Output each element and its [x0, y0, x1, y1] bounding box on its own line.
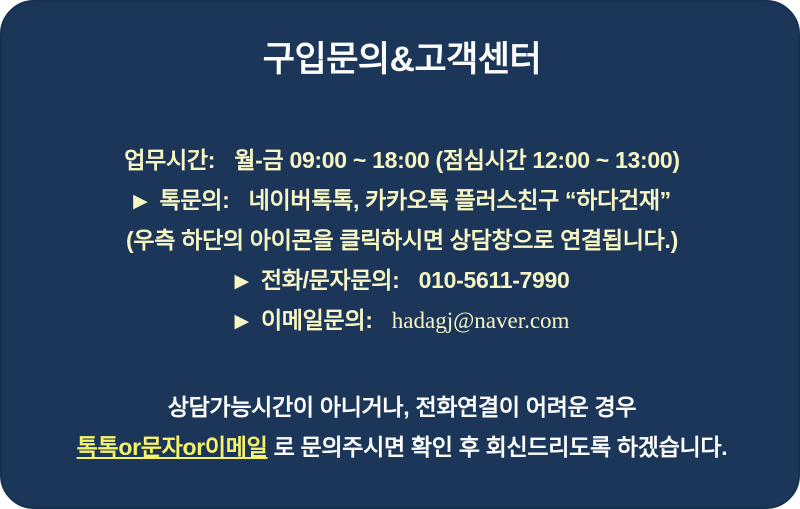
phone-number[interactable]: 010-5611-7990 — [419, 267, 570, 293]
phone-inquiry-label: 전화/문자문의: — [261, 267, 400, 293]
info-line-business-hours: 업무시간: 월-금 09:00 ~ 18:00 (점심시간 12:00 ~ 13… — [2, 140, 800, 180]
info-line-phone-inquiry: ▶ 전화/문자문의: 010-5611-7990 — [2, 260, 800, 300]
info-line-email-inquiry: ▶ 이메일문의: hadagj@naver.com — [2, 300, 800, 340]
closing-highlight-text: 톡톡or문자or이메일 — [77, 434, 268, 460]
inquiry-info-list: 업무시간: 월-금 09:00 ~ 18:00 (점심시간 12:00 ~ 13… — [2, 140, 800, 340]
email-inquiry-label: 이메일문의: — [261, 307, 373, 333]
messenger-note-text: (우측 하단의 아이콘을 클릭하시면 상담창으로 연결됩니다.) — [126, 227, 678, 253]
closing-line-2-text: 로 문의주시면 확인 후 회신드리도록 하겠습니다. — [274, 434, 728, 460]
page-title: 구입문의&고객센터 — [2, 40, 800, 80]
email-address[interactable]: hadagj@naver.com — [392, 308, 570, 333]
messenger-inquiry-label: 톡문의: — [160, 187, 230, 213]
info-line-messenger-note: (우측 하단의 아이콘을 클릭하시면 상담창으로 연결됩니다.) — [2, 220, 800, 260]
triangle-bullet-icon: ▶ — [234, 262, 248, 302]
closing-message: 상담가능시간이 아니거나, 전화연결이 어려운 경우 톡톡or문자or이메일 로… — [2, 387, 800, 467]
closing-line-1-text: 상담가능시간이 아니거나, 전화연결이 어려운 경우 — [168, 394, 637, 420]
info-line-messenger-inquiry: ▶ 톡문의: 네이버톡톡, 카카오톡 플러스친구 “하다건재” — [2, 180, 800, 220]
messenger-inquiry-value: 네이버톡톡, 카카오톡 플러스친구 “하다건재” — [249, 187, 671, 213]
business-hours-label: 업무시간: — [124, 147, 215, 173]
triangle-bullet-icon: ▶ — [235, 302, 249, 342]
business-hours-value: 월-금 09:00 ~ 18:00 (점심시간 12:00 ~ 13:00) — [234, 147, 679, 173]
triangle-bullet-icon: ▶ — [133, 182, 147, 222]
closing-line-2: 톡톡or문자or이메일 로 문의주시면 확인 후 회신드리도록 하겠습니다. — [2, 427, 800, 467]
closing-line-1: 상담가능시간이 아니거나, 전화연결이 어려운 경우 — [2, 387, 800, 427]
contact-info-panel: 구입문의&고객센터 업무시간: 월-금 09:00 ~ 18:00 (점심시간 … — [0, 0, 800, 509]
